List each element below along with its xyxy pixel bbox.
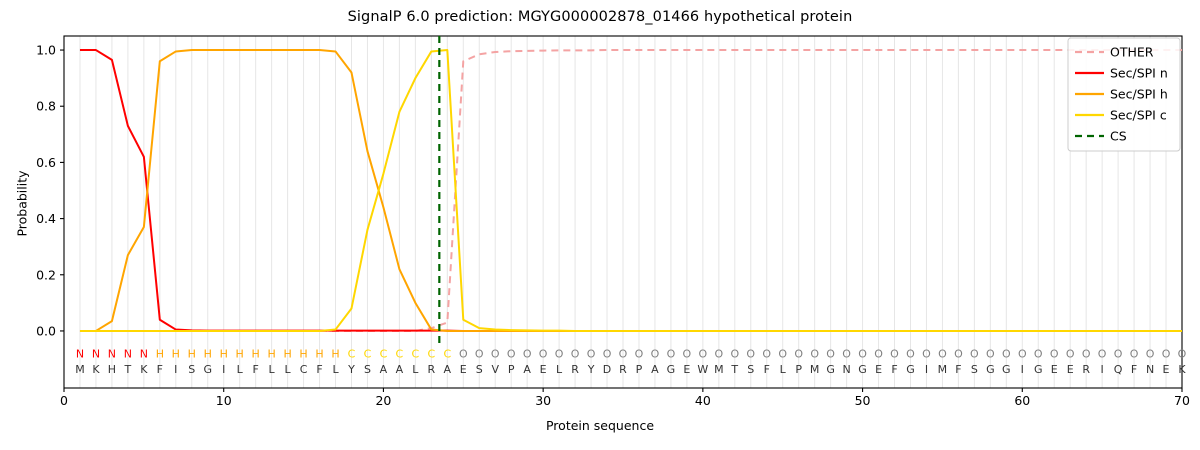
region-annotation: O	[1114, 348, 1123, 361]
region-annotation: O	[1066, 348, 1075, 361]
sequence-residue: L	[269, 363, 276, 376]
plot-area: 0.00.20.40.60.81.0010203040506070NMNKNHN…	[0, 0, 1200, 450]
sequence-residue: D	[603, 363, 611, 376]
region-annotation: O	[826, 348, 835, 361]
sequence-residue: R	[571, 363, 579, 376]
region-annotation: O	[539, 348, 548, 361]
sequence-residue: C	[300, 363, 308, 376]
region-annotation: H	[331, 348, 339, 361]
region-annotation: O	[906, 348, 915, 361]
sequence-residue: F	[1131, 363, 1137, 376]
region-annotation: O	[730, 348, 739, 361]
sequence-residue: R	[619, 363, 627, 376]
region-annotation: O	[986, 348, 995, 361]
region-annotation: O	[954, 348, 963, 361]
sequence-residue: G	[667, 363, 676, 376]
region-annotation: C	[427, 348, 435, 361]
legend-label-other: OTHER	[1110, 45, 1154, 60]
region-annotation: H	[267, 348, 275, 361]
sequence-residue: Y	[587, 363, 595, 376]
legend-label-cs: CS	[1110, 129, 1127, 144]
sequence-residue: A	[380, 363, 388, 376]
sequence-residue: I	[1021, 363, 1024, 376]
sequence-residue: I	[925, 363, 928, 376]
sequence-residue: E	[1163, 363, 1170, 376]
region-annotation: O	[890, 348, 899, 361]
region-annotation: O	[555, 348, 564, 361]
sequence-residue: P	[636, 363, 643, 376]
region-annotation: O	[938, 348, 947, 361]
y-axis-tick-label: 0.6	[36, 155, 56, 170]
x-axis-tick-label: 70	[1174, 393, 1190, 408]
region-annotation: H	[283, 348, 291, 361]
region-annotation: O	[810, 348, 819, 361]
region-annotation: H	[315, 348, 323, 361]
region-annotation: O	[874, 348, 883, 361]
region-annotation: O	[635, 348, 644, 361]
region-annotation: O	[507, 348, 516, 361]
sequence-residue: T	[730, 363, 738, 376]
region-annotation: O	[1018, 348, 1027, 361]
y-axis-tick-label: 0.8	[36, 99, 56, 114]
sequence-residue: M	[938, 363, 948, 376]
series-line-sec-spi-n	[80, 50, 1182, 331]
sequence-residue: M	[810, 363, 820, 376]
x-axis-tick-label: 50	[855, 393, 871, 408]
series-line-other	[80, 50, 1182, 331]
sequence-residue: H	[108, 363, 116, 376]
region-annotation: O	[922, 348, 931, 361]
region-annotation: N	[124, 348, 132, 361]
sequence-residue: L	[285, 363, 292, 376]
sequence-residue: I	[222, 363, 225, 376]
region-annotation: O	[778, 348, 787, 361]
sequence-residue: N	[1146, 363, 1154, 376]
sequence-residue: I	[174, 363, 177, 376]
sequence-residue: E	[540, 363, 547, 376]
region-annotation: O	[571, 348, 580, 361]
sequence-residue: F	[764, 363, 770, 376]
sequence-residue: M	[75, 363, 85, 376]
region-annotation: N	[140, 348, 148, 361]
region-annotation: O	[970, 348, 979, 361]
region-annotation: O	[746, 348, 755, 361]
region-annotation: H	[204, 348, 212, 361]
sequence-residue: E	[683, 363, 690, 376]
sequence-residue: P	[795, 363, 802, 376]
region-annotation: H	[252, 348, 260, 361]
sequence-residue: V	[491, 363, 499, 376]
sequence-residue: G	[826, 363, 835, 376]
sequence-residue: A	[651, 363, 659, 376]
sequence-residue: F	[316, 363, 322, 376]
sequence-residue: K	[92, 363, 100, 376]
sequence-residue: A	[396, 363, 404, 376]
region-annotation: O	[1050, 348, 1059, 361]
sequence-residue: G	[986, 363, 995, 376]
region-annotation: O	[603, 348, 612, 361]
region-annotation: H	[172, 348, 180, 361]
sequence-residue: G	[203, 363, 212, 376]
sequence-residue: K	[1178, 363, 1186, 376]
region-annotation: O	[475, 348, 484, 361]
region-annotation: O	[1162, 348, 1171, 361]
sequence-residue: E	[1051, 363, 1058, 376]
region-annotation: C	[396, 348, 404, 361]
legend-label-sec-spi-h: Sec/SPI h	[1110, 87, 1168, 102]
legend-label-sec-spi-n: Sec/SPI n	[1110, 66, 1168, 81]
region-annotation: O	[1130, 348, 1139, 361]
region-annotation: O	[1178, 348, 1187, 361]
region-annotation: C	[412, 348, 420, 361]
region-annotation: C	[443, 348, 451, 361]
sequence-residue: L	[780, 363, 787, 376]
region-annotation: O	[491, 348, 500, 361]
sequence-residue: L	[412, 363, 419, 376]
sequence-residue: A	[444, 363, 452, 376]
sequence-residue: R	[1082, 363, 1090, 376]
sequence-residue: E	[460, 363, 467, 376]
sequence-residue: F	[252, 363, 258, 376]
sequence-residue: L	[237, 363, 244, 376]
x-axis-tick-label: 0	[60, 393, 68, 408]
sequence-residue: S	[971, 363, 978, 376]
x-axis-tick-label: 20	[375, 393, 391, 408]
region-annotation: O	[762, 348, 771, 361]
region-annotation: N	[76, 348, 84, 361]
x-axis-tick-label: 30	[535, 393, 551, 408]
region-annotation: O	[714, 348, 723, 361]
region-annotation: C	[364, 348, 372, 361]
region-annotation: O	[1002, 348, 1011, 361]
sequence-residue: E	[1067, 363, 1074, 376]
sequence-residue: F	[955, 363, 961, 376]
sequence-residue: T	[124, 363, 132, 376]
sequence-residue: S	[364, 363, 371, 376]
region-annotation: H	[236, 348, 244, 361]
region-annotation: N	[92, 348, 100, 361]
sequence-residue: S	[476, 363, 483, 376]
region-annotation: O	[651, 348, 660, 361]
sequence-residue: L	[332, 363, 339, 376]
sequence-residue: G	[906, 363, 915, 376]
sequence-residue: S	[747, 363, 754, 376]
region-annotation: O	[523, 348, 532, 361]
sequence-residue: G	[858, 363, 867, 376]
region-annotation: O	[858, 348, 867, 361]
sequence-residue: M	[714, 363, 724, 376]
region-annotation: O	[699, 348, 708, 361]
region-annotation: H	[188, 348, 196, 361]
region-annotation: O	[1146, 348, 1155, 361]
sequence-residue: Y	[347, 363, 355, 376]
region-annotation: N	[108, 348, 116, 361]
region-annotation: O	[1098, 348, 1107, 361]
sequence-residue: F	[891, 363, 897, 376]
y-axis-tick-label: 0.2	[36, 267, 56, 282]
region-annotation: C	[380, 348, 388, 361]
region-annotation: H	[156, 348, 164, 361]
sequence-residue: I	[1101, 363, 1104, 376]
y-axis-tick-label: 0.0	[36, 323, 56, 338]
region-annotation: C	[348, 348, 356, 361]
sequence-residue: Q	[1114, 363, 1123, 376]
sequence-residue: L	[556, 363, 563, 376]
sequence-residue: G	[1002, 363, 1011, 376]
sequence-residue: G	[1034, 363, 1043, 376]
region-annotation: O	[459, 348, 468, 361]
region-annotation: O	[842, 348, 851, 361]
region-annotation: H	[220, 348, 228, 361]
sequence-residue: R	[428, 363, 436, 376]
region-annotation: O	[1034, 348, 1043, 361]
sequence-residue: E	[875, 363, 882, 376]
sequence-residue: P	[508, 363, 515, 376]
region-annotation: O	[619, 348, 628, 361]
x-axis-tick-label: 10	[216, 393, 232, 408]
sequence-residue: F	[157, 363, 163, 376]
region-annotation: O	[667, 348, 676, 361]
y-axis-tick-label: 0.4	[36, 211, 56, 226]
sequence-residue: N	[842, 363, 850, 376]
series-line-sec-spi-c	[80, 50, 1182, 331]
sequence-residue: S	[188, 363, 195, 376]
region-annotation: H	[299, 348, 307, 361]
sequence-residue: K	[140, 363, 148, 376]
x-axis-tick-label: 60	[1014, 393, 1030, 408]
region-annotation: O	[683, 348, 692, 361]
region-annotation: O	[794, 348, 803, 361]
sequence-residue: W	[697, 363, 708, 376]
signalp-prediction-figure: SignalP 6.0 prediction: MGYG000002878_01…	[0, 0, 1200, 450]
legend-label-sec-spi-c: Sec/SPI c	[1110, 108, 1167, 123]
region-annotation: O	[1082, 348, 1091, 361]
sequence-residue: A	[523, 363, 531, 376]
series-line-sec-spi-h	[80, 50, 1182, 331]
y-axis-tick-label: 1.0	[36, 43, 56, 58]
region-annotation: O	[587, 348, 596, 361]
x-axis-tick-label: 40	[695, 393, 711, 408]
